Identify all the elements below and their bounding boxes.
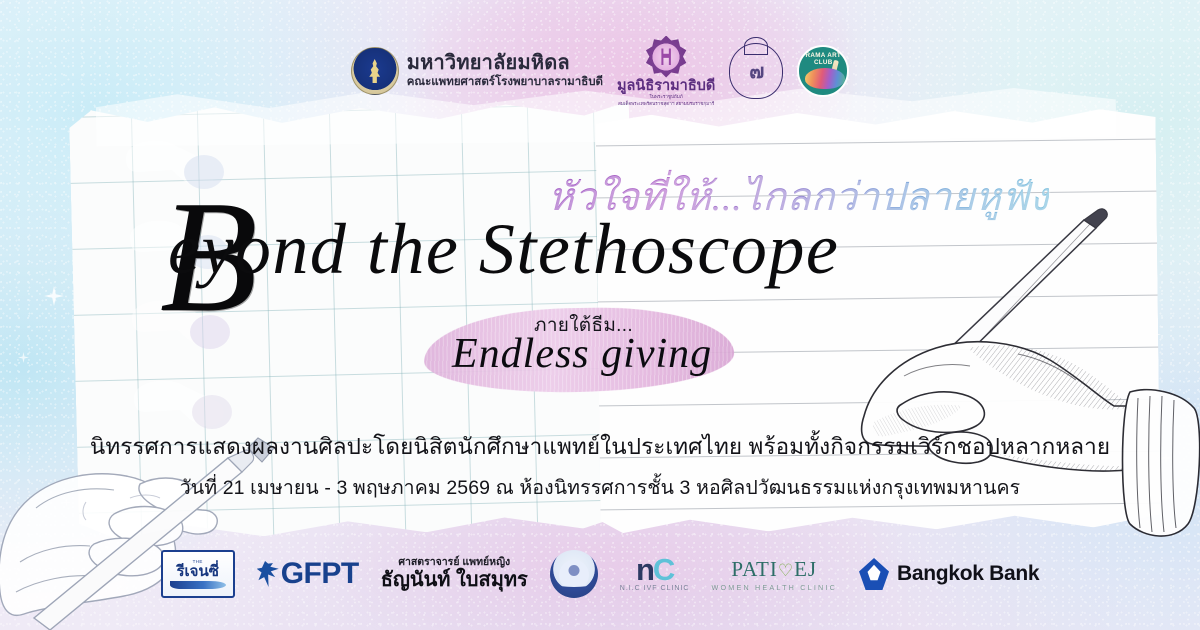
nic-subtitle: N.I.C IVF CLINIC [620, 585, 690, 592]
event-date-venue: วันที่ 21 เมษายน - 3 พฤษภาคม 2569 ณ ห้อง… [0, 472, 1200, 503]
foundation-title: มูลนิธิรามาธิบดี [617, 79, 715, 94]
pati-left: PATI [731, 557, 777, 581]
sponsor-regency: THE รีเจนซี่ [161, 550, 235, 598]
ramathibodi-foundation-logo: มูลนิธิรามาธิบดี ในพระราชูปถัมภ์ สมเด็จพ… [617, 36, 715, 107]
foundation-subtitle-2: สมเด็จพระเทพรัตนราชสุดาฯ สยามบรมราชกุมาร… [618, 101, 714, 107]
bangkok-bank-leaf-icon [859, 558, 889, 590]
pati-subtitle: WOMEN HEALTH CLINIC [711, 583, 837, 592]
mahidol-university-logo: มหาวิทยาลัยมหิดล คณะแพทยศาสตร์โรงพยาบาลร… [351, 47, 603, 95]
partner-logo-row: มหาวิทยาลัยมหิดล คณะแพทยศาสตร์โรงพยาบาลร… [0, 32, 1200, 110]
art-club-line-1: RAMA [806, 52, 826, 59]
sponsor-bangkok-bank: Bangkok Bank [859, 558, 1039, 590]
caring-hands-circle-icon [550, 550, 598, 598]
foundation-subtitle-1: ในพระราชูปถัมภ์ [650, 94, 683, 100]
sponsor-logo-row: THE รีเจนซี่ GFPT ศาสตราจารย์ แพทย์หญิง … [0, 546, 1200, 602]
doctor-name: ธัญนันท์ ใบสมุทร [381, 569, 528, 592]
rama-art-club-icon: RAMA ART CLUB [797, 45, 849, 97]
gfpt-bird-icon [257, 561, 279, 587]
sponsor-pati-ej-clinic: PATI♡EJ WOMEN HEALTH CLINIC [711, 557, 837, 592]
royal-emblem-icon: ๗ [729, 43, 783, 99]
circle-head-icon [568, 565, 579, 576]
heart-icon: ♡ [778, 561, 794, 580]
regency-logo-icon: THE รีเจนซี่ [161, 550, 235, 598]
nic-monogram-icon: nC [636, 556, 673, 584]
event-description: นิทรรศการแสดงผลงานศิลปะโดยนิสิตนักศึกษาแ… [0, 428, 1200, 464]
pati-wordmark: PATI♡EJ [731, 557, 817, 582]
doctor-title: ศาสตราจารย์ แพทย์หญิง [398, 556, 510, 568]
theme-name: Endless giving [452, 330, 712, 378]
bangkok-bank-name: Bangkok Bank [897, 562, 1039, 586]
art-club-palette-icon [805, 68, 845, 89]
sponsor-doctor-thanyanan: ศาสตราจารย์ แพทย์หญิง ธัญนันท์ ใบสมุทร [381, 556, 528, 591]
gfpt-name: GFPT [281, 559, 359, 589]
nic-letter-n: n [636, 552, 653, 587]
mahidol-seal-icon [351, 47, 399, 95]
sponsor-hospital-circle [550, 550, 598, 598]
art-club-line-3: CLUB [814, 59, 833, 66]
sponsor-nic-ivf-clinic: nC N.I.C IVF CLINIC [620, 556, 690, 593]
pati-right: EJ [794, 557, 817, 581]
art-club-text: RAMA ART CLUB [799, 52, 847, 66]
regency-swoosh-icon [170, 581, 226, 589]
event-poster: มหาวิทยาลัยมหิดล คณะแพทยศาสตร์โรงพยาบาลร… [0, 0, 1200, 630]
page-title: eyond the Stethoscope [168, 208, 1048, 291]
mahidol-faculty-name: คณะแพทยศาสตร์โรงพยาบาลรามาธิบดี [407, 76, 603, 88]
circle-hands-icon [557, 578, 591, 591]
mahidol-university-name: มหาวิทยาลัยมหิดล [407, 53, 603, 74]
art-club-line-2: ART [827, 52, 841, 59]
ramathibodi-foundation-icon [645, 36, 687, 78]
royal-emblem-glyph: ๗ [749, 55, 763, 87]
regency-name: รีเจนซี่ [176, 564, 218, 579]
sponsor-gfpt: GFPT [257, 559, 359, 589]
nic-letter-c: C [653, 552, 673, 587]
